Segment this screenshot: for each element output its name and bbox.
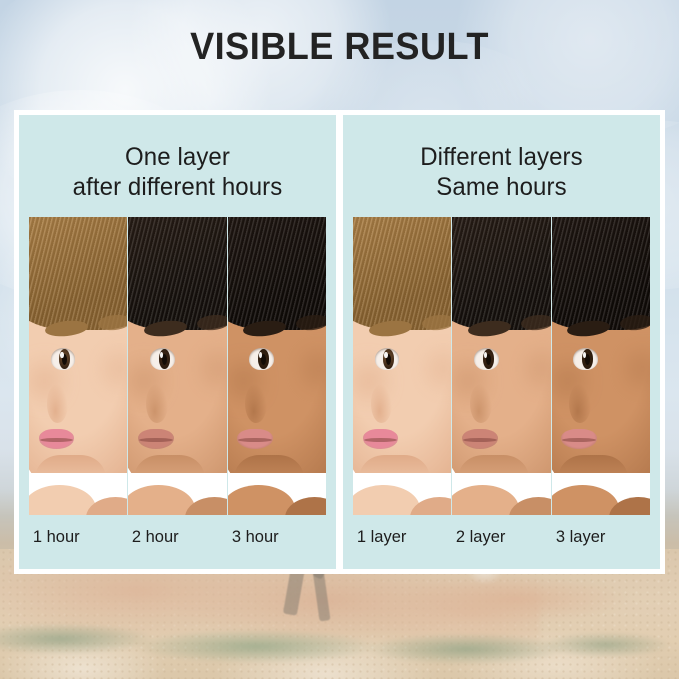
nose xyxy=(47,384,69,423)
panel-divider xyxy=(336,115,343,569)
panel-heading-left-line1: One layer xyxy=(125,143,230,171)
panel-heading-right: Different layers Same hours xyxy=(349,115,653,202)
panel-different-layers: Different layers Same hours 1 layer 2 la… xyxy=(343,115,660,569)
caption-label: 1 layer xyxy=(353,527,448,547)
face-portrait xyxy=(552,217,650,515)
face-portrait xyxy=(228,217,326,515)
eye xyxy=(474,348,499,370)
face-portrait xyxy=(452,217,550,515)
eye xyxy=(375,348,400,370)
face-strip-left xyxy=(29,217,326,515)
face-cell xyxy=(128,217,226,515)
panel-heading-left: One layer after different hours xyxy=(25,115,329,202)
hair-strands xyxy=(552,217,650,330)
caption-row-right: 1 layer 2 layer 3 layer xyxy=(353,515,650,547)
panel-one-layer: One layer after different hours 1 hour 2… xyxy=(19,115,336,569)
lip-line xyxy=(463,438,496,442)
comparison-card: One layer after different hours 1 hour 2… xyxy=(14,110,665,574)
caption-label: 1 hour xyxy=(29,527,124,547)
hair-strands xyxy=(228,217,326,330)
panel-heading-right-line1: Different layers xyxy=(420,143,582,171)
comparison-card-inner: One layer after different hours 1 hour 2… xyxy=(19,115,660,569)
caption-label: 2 layer xyxy=(452,527,547,547)
lip-line xyxy=(40,438,73,442)
eye-highlight xyxy=(384,352,387,358)
face-cell xyxy=(552,217,650,515)
nose xyxy=(470,384,492,423)
face-portrait xyxy=(353,217,451,515)
face-portrait xyxy=(128,217,226,515)
hair-strands xyxy=(29,217,127,330)
caption-label: 2 hour xyxy=(128,527,223,547)
panel-heading-right-line2: Same hours xyxy=(349,173,653,203)
hair-strands xyxy=(128,217,226,330)
eye-highlight xyxy=(484,352,487,358)
green-towel xyxy=(0,619,679,669)
lip-line xyxy=(139,438,172,442)
nose xyxy=(569,384,591,423)
face-strip-right xyxy=(353,217,650,515)
nose xyxy=(245,384,267,423)
caption-label: 3 layer xyxy=(552,527,647,547)
panel-heading-left-line2: after different hours xyxy=(25,173,329,203)
eye xyxy=(51,348,76,370)
nose xyxy=(146,384,168,423)
hair-strands xyxy=(353,217,451,330)
face-cell xyxy=(452,217,550,515)
face-cell xyxy=(353,217,451,515)
page-title: VISIBLE RESULT xyxy=(17,26,662,69)
eye-highlight xyxy=(60,352,63,358)
face-cell xyxy=(228,217,326,515)
nose xyxy=(371,384,393,423)
face-portrait xyxy=(29,217,127,515)
lip-line xyxy=(238,438,271,442)
promo-graphic: VISIBLE RESULT One layer after different… xyxy=(0,0,679,679)
hair-strands xyxy=(452,217,550,330)
caption-row-left: 1 hour 2 hour 3 hour xyxy=(29,515,326,547)
eye-highlight xyxy=(160,352,163,358)
eye xyxy=(249,348,274,370)
eye xyxy=(573,348,598,370)
lip-line xyxy=(562,438,595,442)
eye xyxy=(150,348,175,370)
caption-label: 3 hour xyxy=(228,527,323,547)
lip-line xyxy=(364,438,397,442)
face-cell xyxy=(29,217,127,515)
